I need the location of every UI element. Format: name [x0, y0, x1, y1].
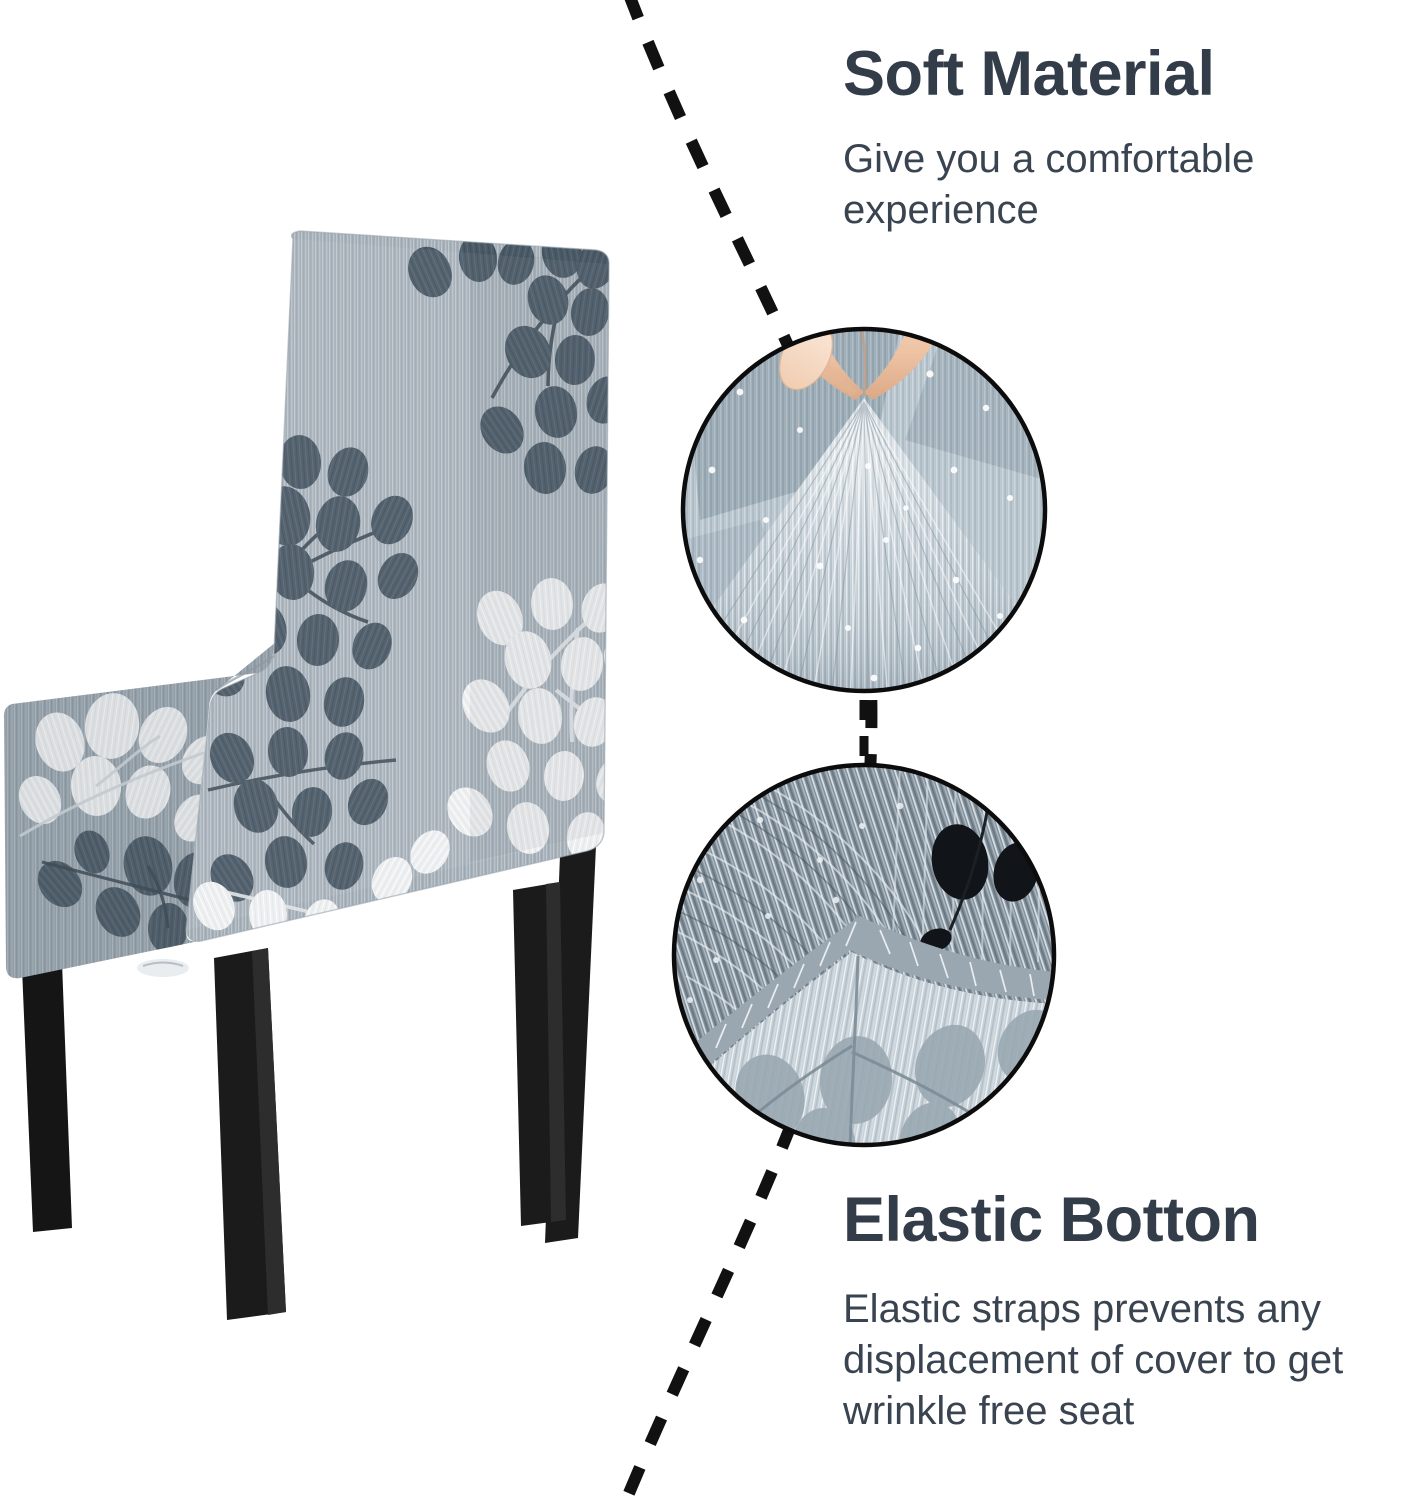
infographic-stage: Soft Material Give you a comfortable exp…: [0, 0, 1421, 1500]
dashed-divider-curve: [622, 0, 871, 1500]
callout-elastic-hem-detail: [672, 765, 1075, 1189]
chair-leg-back-left: [22, 962, 72, 1232]
feature-description-elastic-bottom: Elastic straps prevents any displacement…: [843, 1284, 1413, 1438]
brand-tag: [137, 959, 189, 977]
feature-elastic-bottom: Elastic Botton Elastic straps prevents a…: [843, 1188, 1413, 1437]
feature-title-elastic-bottom: Elastic Botton: [843, 1188, 1413, 1254]
feature-title-soft-material: Soft Material: [843, 42, 1403, 108]
callout-stretch-detail: [672, 292, 1056, 700]
chair-photo: [0, 215, 652, 1320]
feature-soft-material: Soft Material Give you a comfortable exp…: [843, 42, 1403, 236]
feature-description-soft-material: Give you a comfortable experience: [843, 134, 1403, 236]
